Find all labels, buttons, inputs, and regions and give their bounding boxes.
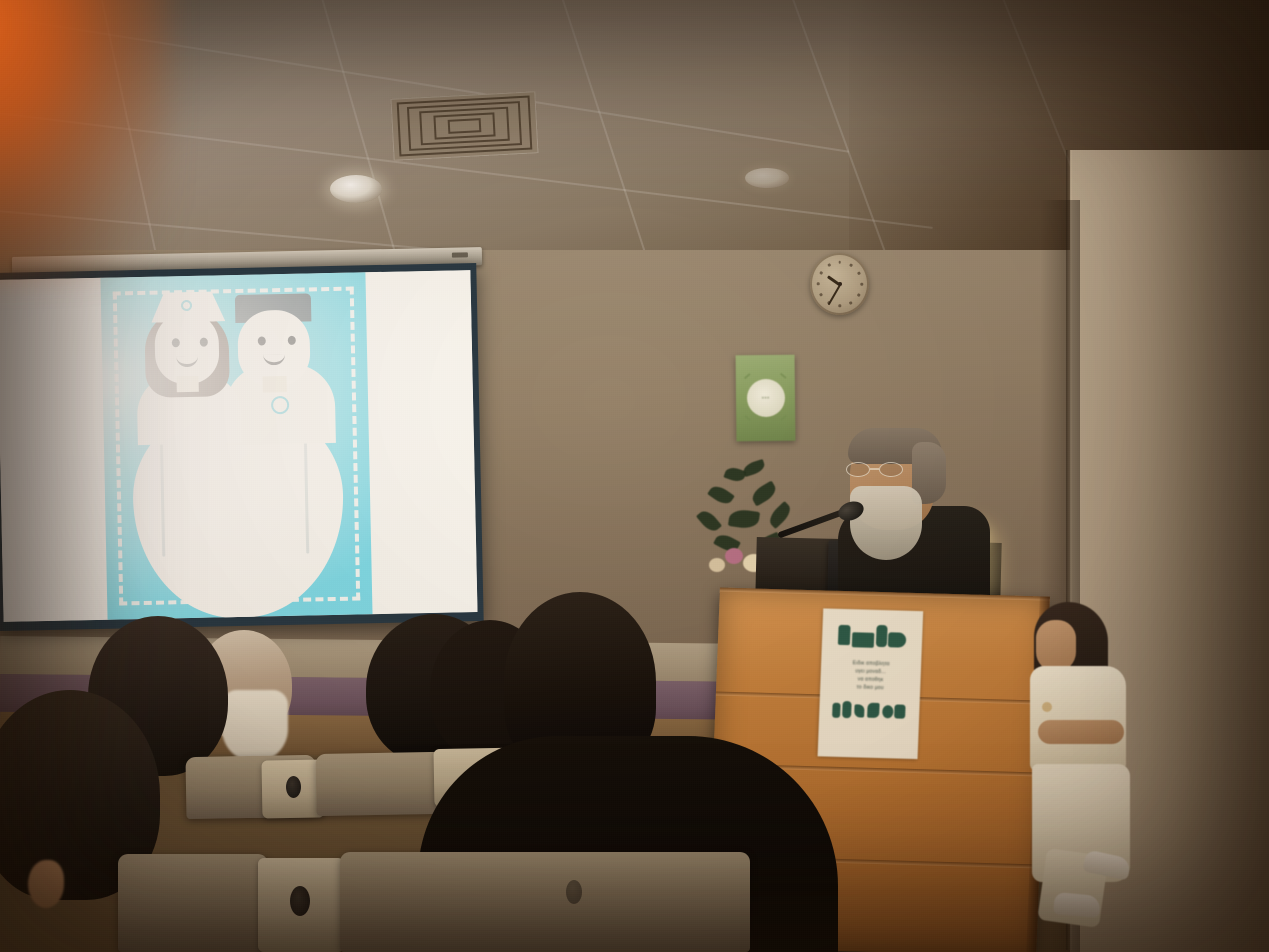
- recessed-downlight-left-icon: [330, 175, 382, 203]
- seat-handle-hole-front-1: [290, 886, 310, 916]
- seat-row-front-1[interactable]: [118, 854, 268, 952]
- speaker-beard: [850, 486, 922, 560]
- podium-poster: Ειδικ αποβλητα υγει μοναδ… να αποθηκ το …: [818, 608, 924, 759]
- audience-ear: [28, 860, 64, 908]
- audience-beard-white: [222, 690, 288, 762]
- letterbox-left: [0, 278, 109, 622]
- standing-nurse-face: [1036, 620, 1076, 672]
- clock-minute-hand: [827, 285, 840, 306]
- letterbox-right: [365, 270, 477, 614]
- hvac-vent-icon: [390, 91, 538, 161]
- standing-nurse-badge-icon: [1042, 702, 1052, 712]
- seat-handle-hole-mid-1: [286, 776, 301, 798]
- speaker-at-podium: [820, 424, 1000, 604]
- presentation-slide: [100, 272, 372, 619]
- podium-poster-graphic-top: [836, 623, 909, 651]
- projection-screen: [0, 263, 484, 631]
- podium-poster-line-4: το δικο μου: [826, 683, 914, 693]
- auditorium-photo: ● ● ●: [0, 0, 1269, 952]
- standing-nurse-arm: [1038, 720, 1124, 744]
- wall-poster-caption: ● ● ●: [752, 395, 778, 400]
- green-wall-poster: ● ● ●: [736, 355, 796, 442]
- podium-poster-graphic-bottom: [832, 701, 907, 721]
- standing-nurse-scrub-top: [1030, 666, 1126, 772]
- standing-nurse: [1026, 602, 1151, 952]
- seat-row-front-2[interactable]: [340, 852, 750, 952]
- screen-brand-label: [452, 252, 468, 257]
- seat-handle-hole-front-2: [566, 880, 582, 904]
- eyeglasses-icon: [846, 462, 912, 478]
- wall-clock: [810, 253, 869, 315]
- recessed-downlight-right-icon: [745, 168, 789, 188]
